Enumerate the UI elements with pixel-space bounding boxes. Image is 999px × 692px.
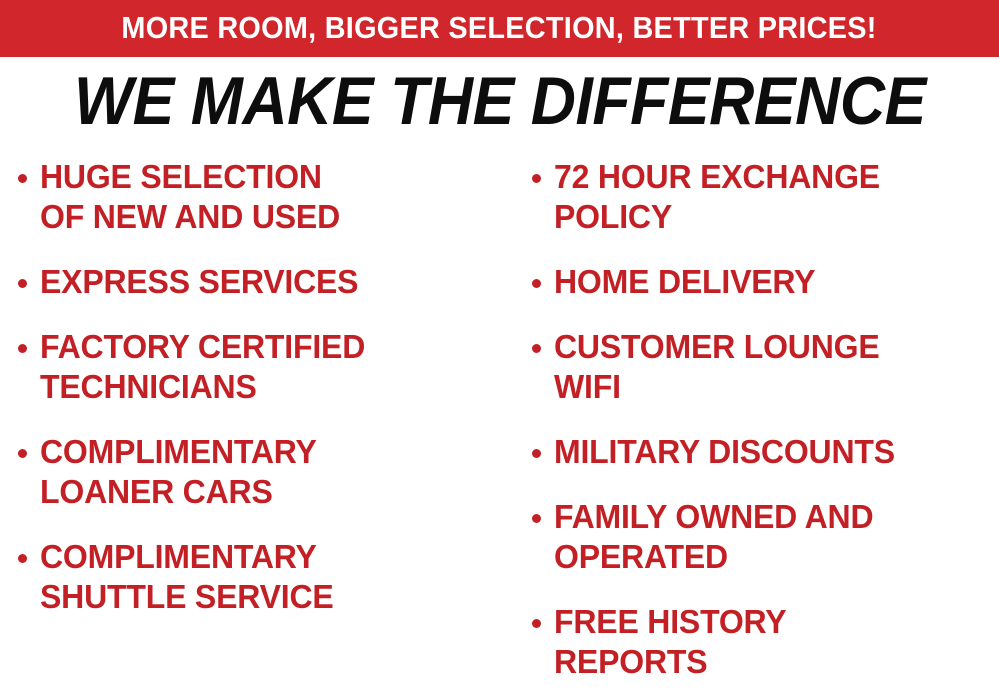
promo-banner-text: MORE ROOM, BIGGER SELECTION, BETTER PRIC… bbox=[122, 12, 877, 45]
list-item: HUGE SELECTION OF NEW AND USED bbox=[18, 157, 510, 237]
bullet-dot-icon bbox=[18, 174, 27, 183]
list-item-label: FREE HISTORY REPORTS bbox=[554, 602, 786, 682]
list-item-label: MILITARY DISCOUNTS bbox=[554, 432, 895, 472]
list-item: FAMILY OWNED AND OPERATED bbox=[532, 497, 999, 577]
list-item-label: 72 HOUR EXCHANGE POLICY bbox=[554, 157, 880, 237]
list-item-label: COMPLIMENTARY LOANER CARS bbox=[40, 432, 317, 512]
benefits-columns: HUGE SELECTION OF NEW AND USED EXPRESS S… bbox=[0, 145, 999, 692]
bullet-dot-icon bbox=[532, 514, 541, 523]
list-item-label: EXPRESS SERVICES bbox=[40, 262, 358, 302]
bullet-dot-icon bbox=[532, 174, 541, 183]
list-item: FACTORY CERTIFIED TECHNICIANS bbox=[18, 327, 510, 407]
headline-container: WE MAKE THE DIFFERENCE bbox=[0, 57, 999, 145]
list-item: HOME DELIVERY bbox=[532, 262, 999, 302]
bullet-dot-icon bbox=[532, 344, 541, 353]
list-item: MILITARY DISCOUNTS bbox=[532, 432, 999, 472]
list-item: FREE HISTORY REPORTS bbox=[532, 602, 999, 682]
bullet-dot-icon bbox=[532, 449, 541, 458]
list-item-label: HOME DELIVERY bbox=[554, 262, 815, 302]
bullet-dot-icon bbox=[532, 279, 541, 288]
bullet-dot-icon bbox=[532, 619, 541, 628]
bullet-dot-icon bbox=[18, 344, 27, 353]
list-item-label: COMPLIMENTARY SHUTTLE SERVICE bbox=[40, 537, 334, 617]
bullet-dot-icon bbox=[18, 554, 27, 563]
list-item-label: FAMILY OWNED AND OPERATED bbox=[554, 497, 873, 577]
promo-banner: MORE ROOM, BIGGER SELECTION, BETTER PRIC… bbox=[0, 0, 999, 57]
bullet-dot-icon bbox=[18, 449, 27, 458]
list-item: 72 HOUR EXCHANGE POLICY bbox=[532, 157, 999, 237]
benefits-column-right: 72 HOUR EXCHANGE POLICY HOME DELIVERY CU… bbox=[510, 145, 999, 692]
list-item: COMPLIMENTARY LOANER CARS bbox=[18, 432, 510, 512]
list-item-label: HUGE SELECTION OF NEW AND USED bbox=[40, 157, 340, 237]
list-item-label: FACTORY CERTIFIED TECHNICIANS bbox=[40, 327, 365, 407]
list-item-label: CUSTOMER LOUNGE WIFI bbox=[554, 327, 880, 407]
list-item: CUSTOMER LOUNGE WIFI bbox=[532, 327, 999, 407]
list-item: COMPLIMENTARY SHUTTLE SERVICE bbox=[18, 537, 510, 617]
list-item: EXPRESS SERVICES bbox=[18, 262, 510, 302]
page-title: WE MAKE THE DIFFERENCE bbox=[74, 67, 926, 135]
benefits-column-left: HUGE SELECTION OF NEW AND USED EXPRESS S… bbox=[0, 145, 510, 692]
bullet-dot-icon bbox=[18, 279, 27, 288]
